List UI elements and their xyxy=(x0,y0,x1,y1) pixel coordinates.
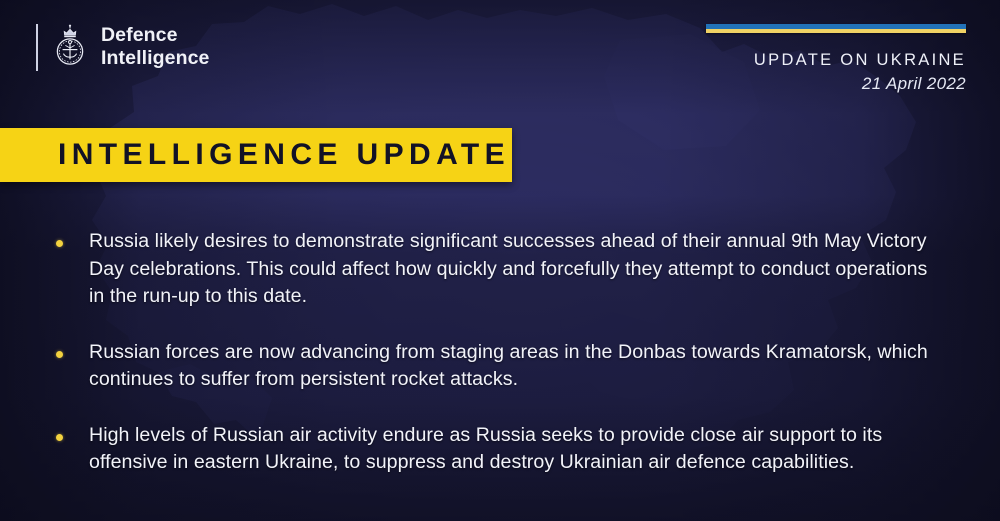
bullet-text: High levels of Russian air activity endu… xyxy=(89,422,944,477)
list-item: High levels of Russian air activity endu… xyxy=(56,422,944,477)
list-item: Russian forces are now advancing from st… xyxy=(56,339,944,394)
update-title: UPDATE ON UKRAINE xyxy=(706,50,966,70)
banner-label: INTELLIGENCE UPDATE xyxy=(0,138,510,172)
update-header-block: UPDATE ON UKRAINE 21 April 2022 xyxy=(706,24,966,95)
intelligence-update-banner: INTELLIGENCE UPDATE xyxy=(0,128,512,182)
ukraine-flag-bar xyxy=(706,24,966,33)
defence-intelligence-logo: Defence Intelligence xyxy=(36,19,209,75)
bullet-dot-icon xyxy=(56,434,63,441)
intelligence-update-slide: Defence Intelligence UPDATE ON UKRAINE 2… xyxy=(0,0,1000,521)
bullet-text: Russian forces are now advancing from st… xyxy=(89,339,944,394)
bullet-text: Russia likely desires to demonstrate sig… xyxy=(89,228,944,311)
logo-divider xyxy=(36,24,38,71)
flag-stripe-yellow xyxy=(706,29,966,34)
bullet-dot-icon xyxy=(56,351,63,358)
update-date: 21 April 2022 xyxy=(706,73,966,95)
list-item: Russia likely desires to demonstrate sig… xyxy=(56,228,944,311)
logo-wordmark: Defence Intelligence xyxy=(101,24,209,70)
bullet-list: Russia likely desires to demonstrate sig… xyxy=(56,228,944,477)
bullet-dot-icon xyxy=(56,240,63,247)
mod-crest-icon xyxy=(49,24,91,71)
